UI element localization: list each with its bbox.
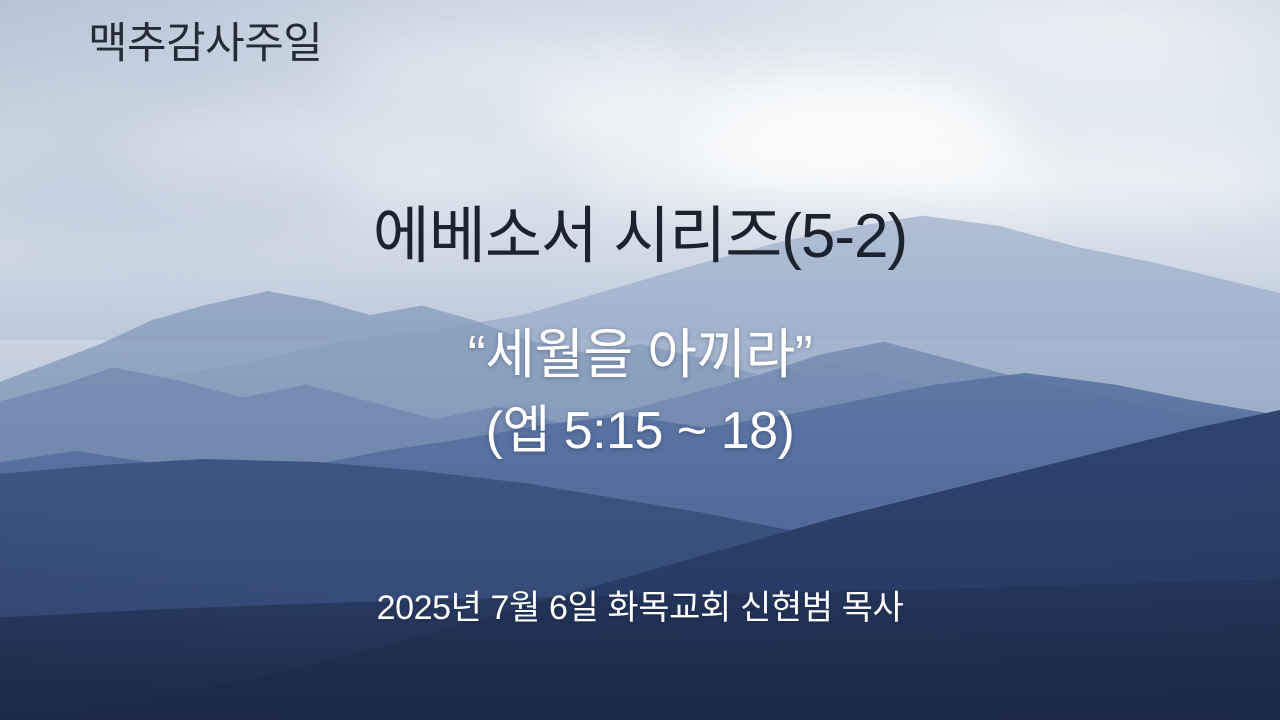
scripture-reference: (엡 5:15 ~ 18) xyxy=(0,388,1280,463)
sermon-theme-quote: “세월을 아끼라” xyxy=(0,310,1280,389)
occasion-label: 맥추감사주일 xyxy=(88,9,322,71)
slide-text-content: 맥추감사주일 에베소서 시리즈(5-2) “세월을 아끼라” (엡 5:15 ~… xyxy=(0,0,1280,720)
presentation-slide: 맥추감사주일 에베소서 시리즈(5-2) “세월을 아끼라” (엡 5:15 ~… xyxy=(0,0,1280,720)
date-church-speaker-line: 2025년 7월 6일 화목교회 신현범 목사 xyxy=(0,580,1280,629)
sermon-series-title: 에베소서 시리즈(5-2) xyxy=(0,185,1280,275)
